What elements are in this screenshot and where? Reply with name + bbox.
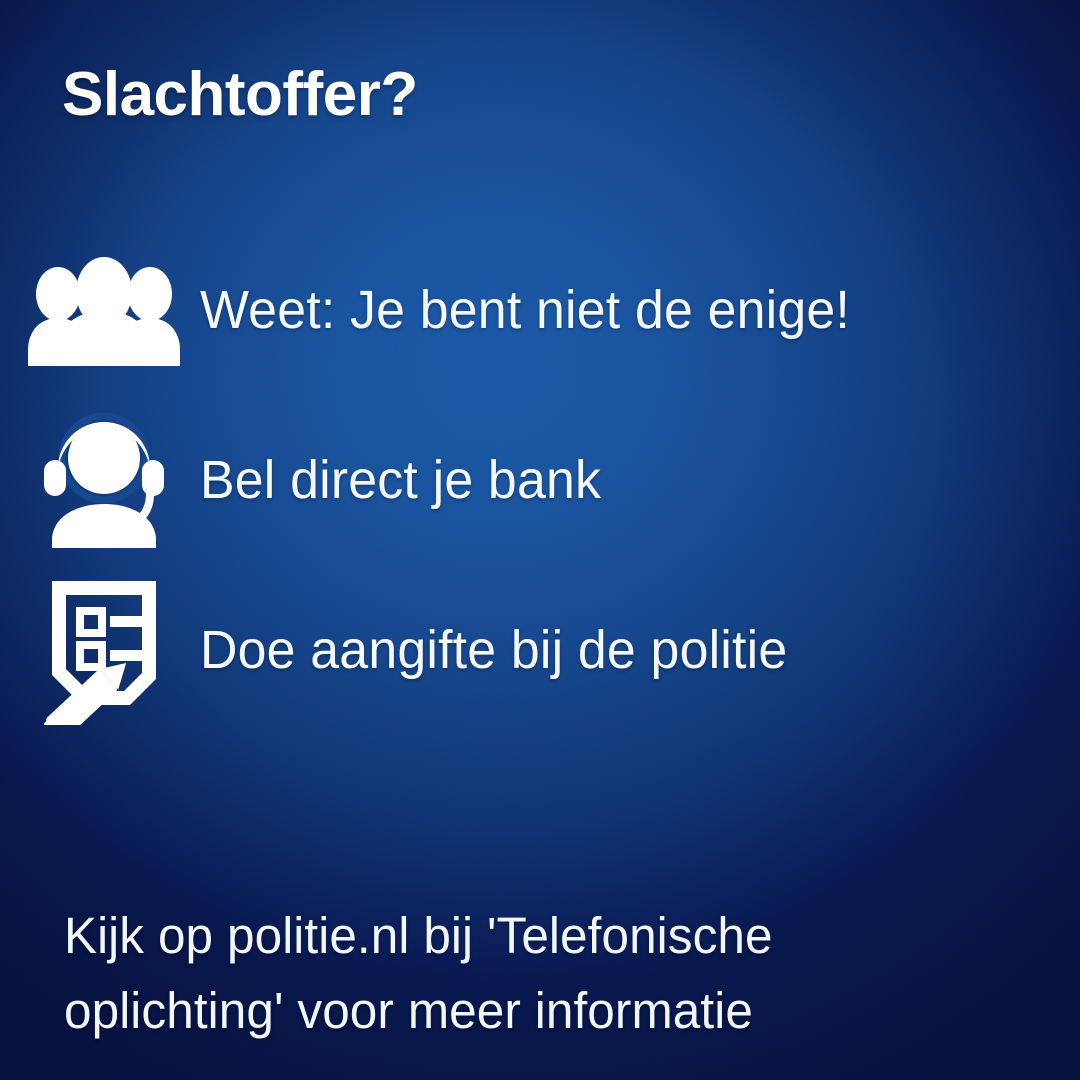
tips-list: Weet: Je bent niet de enige! [0,225,1080,735]
footer-note: Kijk op politie.nl bij 'Telefonische opl… [64,898,976,1048]
tip-label: Doe aangifte bij de politie [200,619,787,681]
poster-content: Slachtoffer? [0,0,1080,1080]
page-title: Slachtoffer? [62,62,418,129]
footer-line-2: oplichting' voor meer informatie [64,973,976,1048]
awareness-poster: Slachtoffer? [0,0,1080,1080]
headset-support-agent-icon [0,412,200,548]
group-of-people-icon [0,254,200,366]
list-item: Weet: Je bent niet de enige! [0,225,1080,395]
report-form-with-pencil-icon [0,575,200,725]
list-item: Doe aangifte bij de politie [0,565,1080,735]
footer-line-1: Kijk op politie.nl bij 'Telefonische [64,898,976,973]
tip-label: Weet: Je bent niet de enige! [200,279,850,341]
list-item: Bel direct je bank [0,395,1080,565]
tip-label: Bel direct je bank [200,449,601,511]
